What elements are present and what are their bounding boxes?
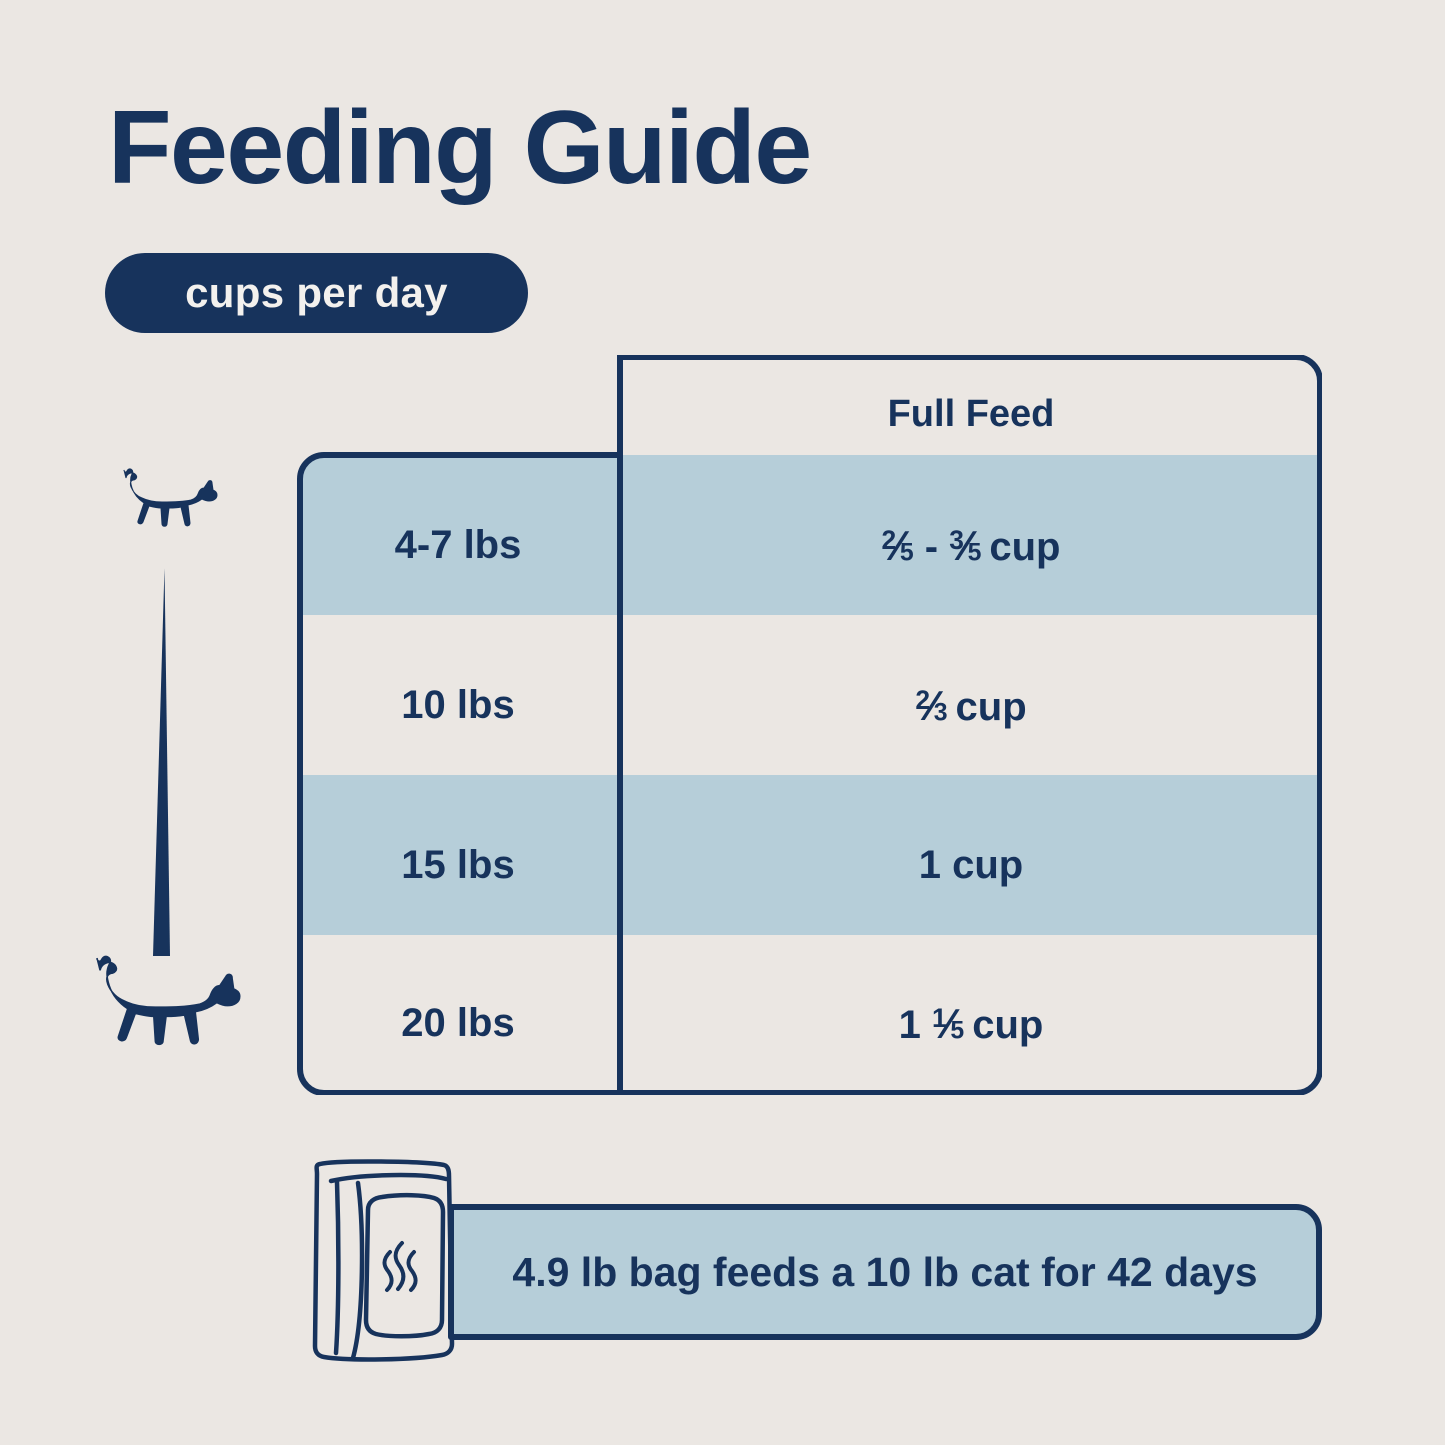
feed-text: 1 cup	[919, 843, 1023, 887]
fraction: 2⁄5	[882, 525, 914, 567]
fraction: 2⁄3	[915, 685, 947, 727]
bag-duration-banner: 4.9 lb bag feeds a 10 lb cat for 42 days	[448, 1204, 1322, 1340]
fraction: 3⁄5	[949, 525, 981, 567]
cat-large-icon	[80, 955, 246, 1087]
cell-weight-1: 10 lbs	[296, 685, 620, 725]
cell-weight-0: 4-7 lbs	[296, 525, 620, 565]
cell-feed-3: 1 1⁄5 cup	[620, 1003, 1322, 1045]
feed-text: -	[914, 525, 950, 569]
cell-weight-3: 20 lbs	[296, 1003, 620, 1043]
cat-size-scale	[72, 460, 292, 1100]
cat-small-icon	[114, 468, 220, 554]
feed-text: cup	[964, 1003, 1043, 1047]
cell-feed-1: 2⁄3 cup	[620, 685, 1322, 727]
size-scale-wedge-icon	[150, 568, 182, 956]
feed-text: cup	[981, 525, 1060, 569]
cell-feed-2: 1 cup	[620, 845, 1322, 885]
column-header-full-feed: Full Feed	[620, 395, 1322, 433]
bag-duration-text: 4.9 lb bag feeds a 10 lb cat for 42 days	[448, 1204, 1322, 1340]
feeding-guide-infographic: Feeding Guide cups per day	[0, 0, 1445, 1445]
feed-text: 1	[899, 1003, 932, 1047]
cell-weight-2: 15 lbs	[296, 845, 620, 885]
page-title: Feeding Guide	[108, 96, 811, 200]
cell-feed-0: 2⁄5 - 3⁄5 cup	[620, 525, 1322, 567]
feed-text: cup	[948, 685, 1027, 729]
units-badge: cups per day	[105, 253, 528, 333]
units-badge-label: cups per day	[185, 272, 448, 314]
fraction: 1⁄5	[932, 1003, 964, 1045]
feeding-table: Full Feed 4-7 lbs 10 lbs 15 lbs 20 lbs 2…	[296, 355, 1322, 1095]
